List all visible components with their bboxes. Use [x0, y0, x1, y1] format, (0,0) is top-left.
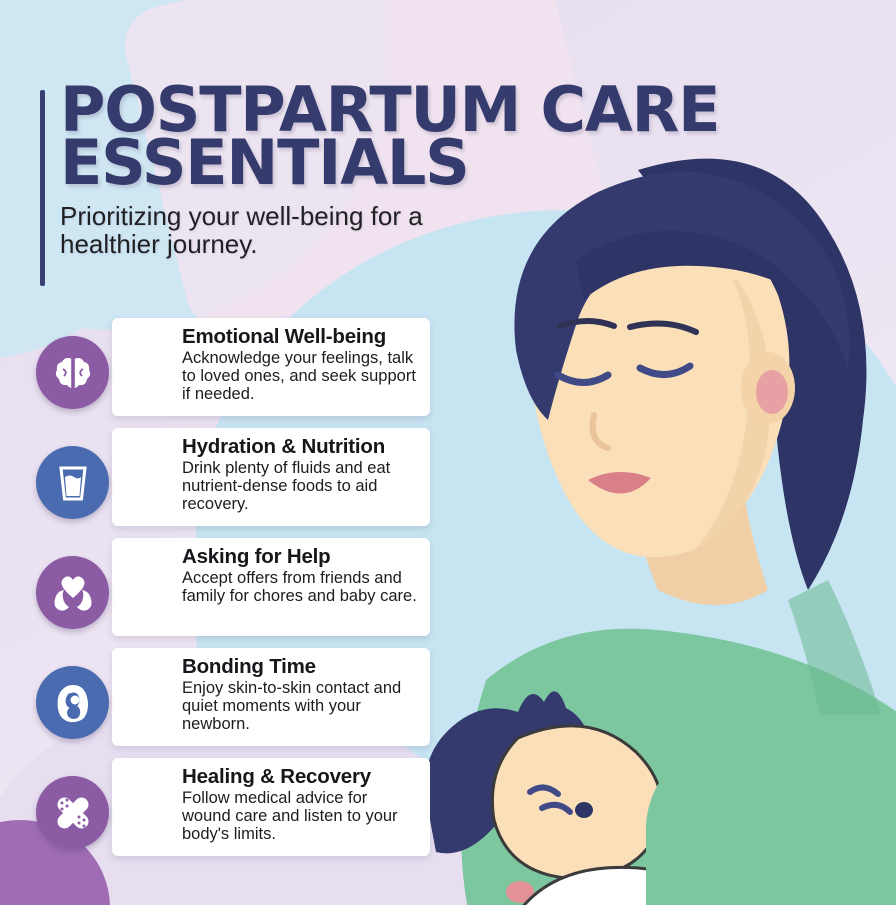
- tip-title: Emotional Well-being: [182, 326, 418, 349]
- tip-card[interactable]: Emotional Well-being Acknowledge your fe…: [112, 318, 430, 416]
- bandage-icon: [36, 776, 109, 849]
- infographic-poster: POSTPARTUM CARE ESSENTIALS Prioritizing …: [0, 0, 896, 905]
- poster-header: POSTPARTUM CARE ESSENTIALS Prioritizing …: [40, 84, 760, 258]
- tip-title: Bonding Time: [182, 656, 418, 679]
- tip-description: Acknowledge your feelings, talk to loved…: [182, 350, 418, 403]
- title-accent-rule: [40, 90, 45, 286]
- tip-card[interactable]: Healing & Recovery Follow medical advice…: [112, 758, 430, 856]
- tip-description: Follow medical advice for wound care and…: [182, 790, 418, 843]
- tip-description: Drink plenty of fluids and eat nutrient-…: [182, 460, 418, 513]
- baby-nose: [575, 802, 593, 818]
- list-item[interactable]: Emotional Well-being Acknowledge your fe…: [58, 318, 430, 416]
- list-item[interactable]: Healing & Recovery Follow medical advice…: [58, 758, 430, 856]
- brain-icon: [36, 336, 109, 409]
- list-item[interactable]: Asking for Help Accept offers from frien…: [58, 538, 430, 636]
- page-title: POSTPARTUM CARE ESSENTIALS: [60, 84, 760, 189]
- tip-card[interactable]: Asking for Help Accept offers from frien…: [112, 538, 430, 636]
- tip-title: Hydration & Nutrition: [182, 436, 418, 459]
- list-item[interactable]: Hydration & Nutrition Drink plenty of fl…: [58, 428, 430, 526]
- mother-ear-inner: [756, 370, 788, 414]
- page-subtitle: Prioritizing your well-being for a healt…: [60, 203, 470, 258]
- tip-title: Healing & Recovery: [182, 766, 418, 789]
- hands-heart-icon: [36, 556, 109, 629]
- tip-card[interactable]: Bonding Time Enjoy skin-to-skin contact …: [112, 648, 430, 746]
- tip-description: Enjoy skin-to-skin contact and quiet mom…: [182, 680, 418, 733]
- tips-list: Emotional Well-being Acknowledge your fe…: [58, 318, 430, 868]
- water-glass-icon: [36, 446, 109, 519]
- list-item[interactable]: Bonding Time Enjoy skin-to-skin contact …: [58, 648, 430, 746]
- mother-baby-icon: [36, 666, 109, 739]
- tip-description: Accept offers from friends and family fo…: [182, 570, 418, 606]
- tip-title: Asking for Help: [182, 546, 418, 569]
- tip-card[interactable]: Hydration & Nutrition Drink plenty of fl…: [112, 428, 430, 526]
